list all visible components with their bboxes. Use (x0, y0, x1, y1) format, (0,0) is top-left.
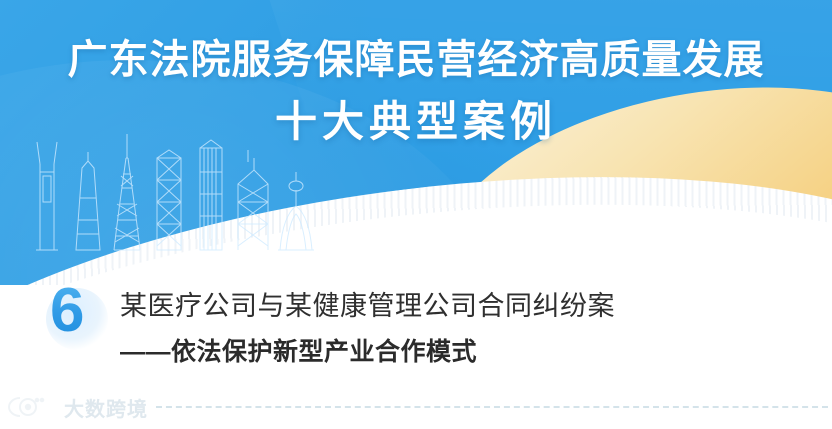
footer-dotted-line (156, 406, 828, 408)
poster-title-line1: 广东法院服务保障民营经济高质量发展 (0, 38, 832, 83)
poster-title-line2: 十大典型案例 (0, 99, 832, 145)
case-number-badge: 6 (42, 284, 120, 376)
watermark-text: 大数跨境 (64, 393, 148, 422)
poster-root: 广东法院服务保障民营经济高质量发展 十大典型案例 6 某医疗公司与某健康管理公司… (0, 0, 832, 429)
header-banner: 广东法院服务保障民营经济高质量发展 十大典型案例 (0, 0, 832, 285)
case-entry: 6 某医疗公司与某健康管理公司合同纠纷案 ——依法保护新型产业合作模式 (0, 284, 832, 394)
footer-watermark: 大数跨境 (0, 391, 832, 423)
dashukuajing-logo-icon (6, 394, 62, 420)
header-title-block: 广东法院服务保障民营经济高质量发展 十大典型案例 (0, 0, 832, 145)
case-title: 某医疗公司与某健康管理公司合同纠纷案 (120, 290, 615, 324)
case-description: ——依法保护新型产业合作模式 (120, 337, 615, 368)
case-text-group: 某医疗公司与某健康管理公司合同纠纷案 ——依法保护新型产业合作模式 (120, 284, 615, 368)
case-number: 6 (50, 280, 84, 342)
